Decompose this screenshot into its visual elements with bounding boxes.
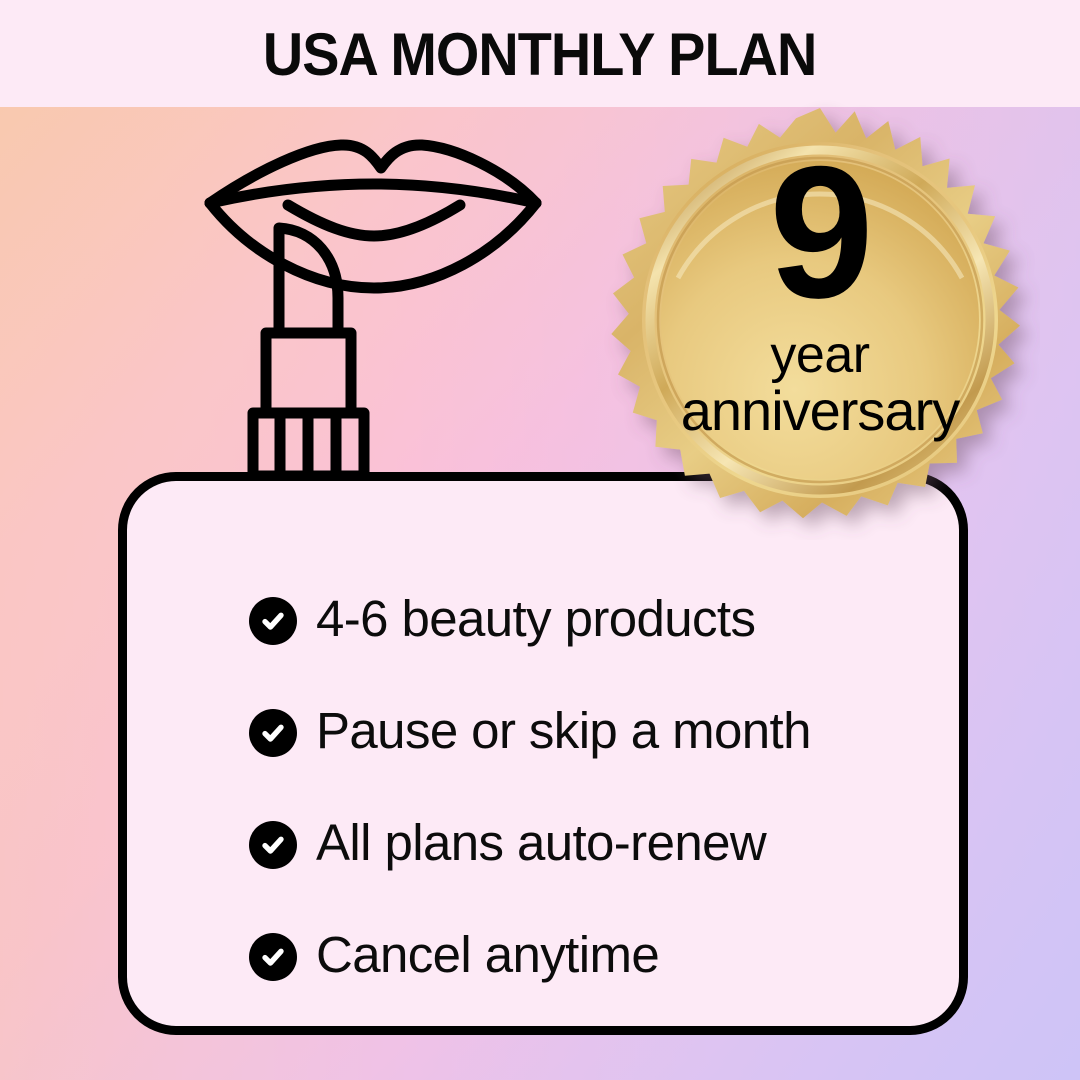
benefits-list: 4-6 beauty products Pause or skip a mont… (249, 563, 949, 1011)
check-circle-icon (249, 821, 297, 869)
page-title: USA MONTHLY PLAN (263, 25, 817, 85)
lips-and-lipstick-icon (178, 118, 568, 498)
promo-graphic: USA MONTHLY PLAN (0, 0, 1080, 1080)
benefit-label: Pause or skip a month (316, 704, 811, 758)
anniversary-badge: 9 year anniversary (600, 100, 1040, 540)
list-item: Pause or skip a month (249, 675, 949, 787)
plan-benefits-card: 4-6 beauty products Pause or skip a mont… (118, 472, 968, 1035)
check-circle-icon (249, 709, 297, 757)
benefit-label: Cancel anytime (316, 928, 659, 982)
check-circle-icon (249, 597, 297, 645)
list-item: Cancel anytime (249, 899, 949, 1011)
header-band: USA MONTHLY PLAN (0, 0, 1080, 107)
list-item: All plans auto-renew (249, 787, 949, 899)
check-circle-icon (249, 933, 297, 981)
badge-seal-icon (600, 100, 1040, 540)
benefit-label: 4-6 beauty products (316, 592, 755, 646)
list-item: 4-6 beauty products (249, 563, 949, 675)
benefit-label: All plans auto-renew (316, 816, 766, 870)
